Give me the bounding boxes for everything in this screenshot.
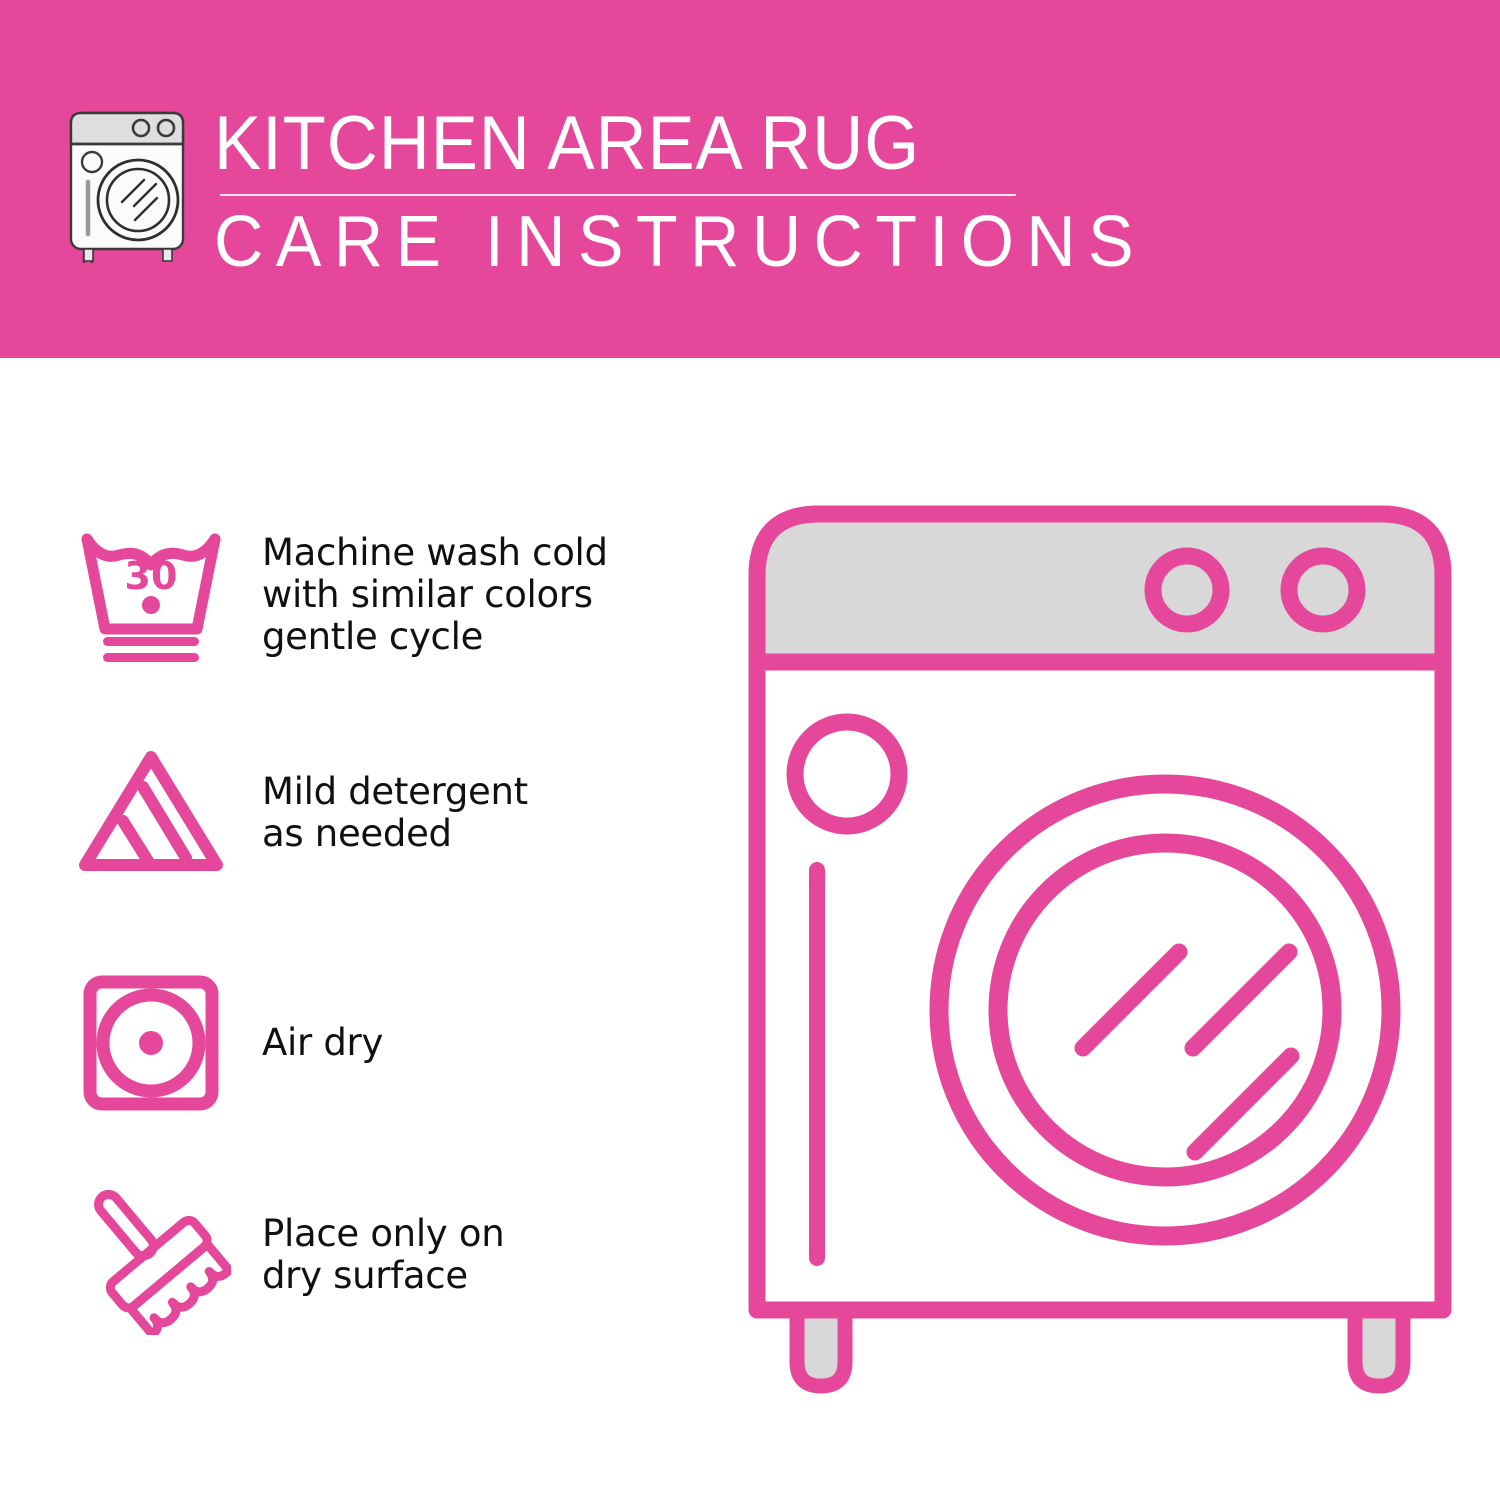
care-item-label: Air dry [262, 1022, 383, 1064]
tumble-dry-icon [62, 958, 240, 1128]
care-instructions-infographic: KITCHEN AREA RUG CARE INSTRUCTIONS 30 [0, 0, 1500, 1500]
washing-machine-illustration [735, 480, 1465, 1440]
care-text-line: dry surface [262, 1255, 504, 1297]
care-item-label: Machine wash cold with similar colors ge… [262, 532, 608, 658]
washer-knob-right [1289, 556, 1357, 624]
care-item-air-dry: Air dry [0, 958, 700, 1128]
care-item-dry-surface: Place only on dry surface [0, 1170, 700, 1340]
title-divider [220, 194, 1016, 196]
care-item-label: Place only on dry surface [262, 1213, 504, 1297]
care-item-machine-wash: 30 Machine wash cold with similar colors… [0, 510, 700, 680]
care-text-line: with similar colors [262, 574, 608, 616]
care-text-line: Air dry [262, 1022, 383, 1064]
bleach-triangle-icon [62, 728, 240, 898]
wash-temperature-label: 30 [125, 554, 178, 598]
care-text-line: gentle cycle [262, 616, 608, 658]
care-text-line: as needed [262, 813, 528, 855]
header-banner: KITCHEN AREA RUG CARE INSTRUCTIONS [0, 0, 1500, 358]
wash-tub-30-icon: 30 [62, 510, 240, 680]
washing-machine-icon [62, 108, 202, 266]
care-text-line: Mild detergent [262, 771, 528, 813]
care-item-label: Mild detergent as needed [262, 771, 528, 855]
care-item-mild-detergent: Mild detergent as needed [0, 728, 700, 898]
page-title: KITCHEN AREA RUG [214, 104, 986, 184]
broom-icon [62, 1170, 240, 1340]
washer-knob-left [1153, 556, 1221, 624]
header-title-group: KITCHEN AREA RUG CARE INSTRUCTIONS [214, 104, 1044, 280]
care-text-line: Place only on [262, 1213, 504, 1255]
page-subtitle: CARE INSTRUCTIONS [214, 204, 1003, 280]
care-text-line: Machine wash cold [262, 532, 608, 574]
